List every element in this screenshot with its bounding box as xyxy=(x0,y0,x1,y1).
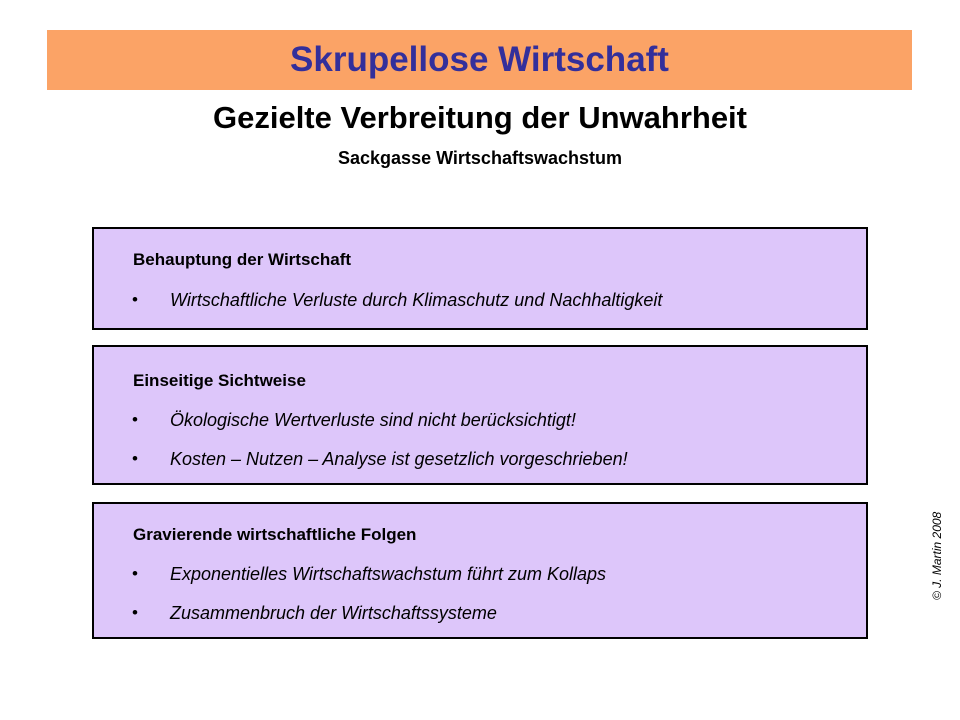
list-item: • Kosten – Nutzen – Analyse ist gesetzli… xyxy=(132,448,856,470)
list-item-label: Ökologische Wertverluste sind nicht berü… xyxy=(170,409,576,431)
subtitle-primary: Gezielte Verbreitung der Unwahrheit xyxy=(0,100,960,136)
box-heading: Gravierende wirtschaftliche Folgen xyxy=(133,525,416,545)
list-item: • Wirtschaftliche Verluste durch Klimasc… xyxy=(132,289,856,311)
list-item-label: Exponentielles Wirtschaftswachstum führt… xyxy=(170,563,606,585)
bullet-icon: • xyxy=(132,602,146,624)
title-banner: Skrupellose Wirtschaft xyxy=(47,30,912,90)
bullet-icon: • xyxy=(132,289,146,311)
bullet-icon: • xyxy=(132,409,146,431)
list-item-label: Kosten – Nutzen – Analyse ist gesetzlich… xyxy=(170,448,628,470)
box-heading: Einseitige Sichtweise xyxy=(133,371,306,391)
bullet-icon: • xyxy=(132,448,146,470)
page-title: Skrupellose Wirtschaft xyxy=(47,30,912,90)
bullet-icon: • xyxy=(132,563,146,585)
list-item-label: Zusammenbruch der Wirtschaftssysteme xyxy=(170,602,497,624)
list-item: • Zusammenbruch der Wirtschaftssysteme xyxy=(132,602,856,624)
list-item: • Ökologische Wertverluste sind nicht be… xyxy=(132,409,856,431)
content-box-folgen: Gravierende wirtschaftliche Folgen • Exp… xyxy=(92,502,868,639)
box-heading: Behauptung der Wirtschaft xyxy=(133,250,351,270)
content-box-behauptung: Behauptung der Wirtschaft • Wirtschaftli… xyxy=(92,227,868,330)
copyright-notice: © J. Martin 2008 xyxy=(930,512,944,600)
list-item: • Exponentielles Wirtschaftswachstum füh… xyxy=(132,563,856,585)
content-box-sichtweise: Einseitige Sichtweise • Ökologische Wert… xyxy=(92,345,868,485)
subtitle-secondary: Sackgasse Wirtschaftswachstum xyxy=(0,148,960,169)
list-item-label: Wirtschaftliche Verluste durch Klimaschu… xyxy=(170,289,662,311)
